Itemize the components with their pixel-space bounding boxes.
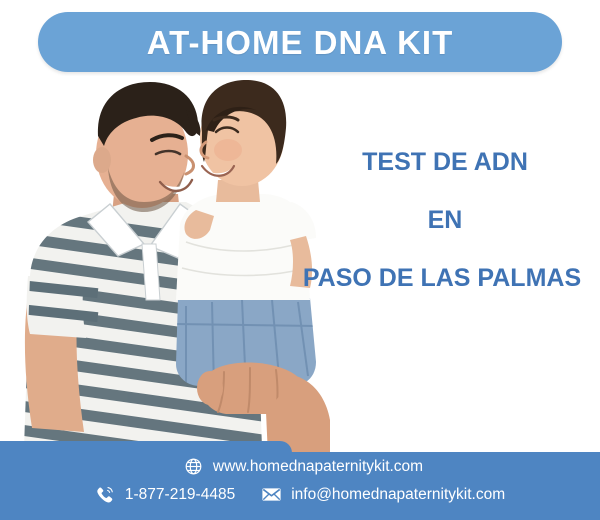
- page-title: AT-HOME DNA KIT: [147, 26, 453, 59]
- website-text: www.homednapaternitykit.com: [213, 458, 423, 475]
- footer-bar: www.homednapaternitykit.com 1-877-219-44…: [0, 441, 600, 520]
- headline-line-2: EN: [300, 208, 590, 233]
- email-text: info@homednapaternitykit.com: [291, 486, 505, 503]
- email-contact[interactable]: info@homednapaternitykit.com: [261, 484, 505, 505]
- footer-contacts: www.homednapaternitykit.com 1-877-219-44…: [0, 441, 600, 520]
- phone-icon: [95, 484, 116, 505]
- phone-contact[interactable]: 1-877-219-4485: [95, 484, 235, 505]
- promo-card: AT-HOME DNA KIT: [0, 0, 600, 520]
- header-banner: AT-HOME DNA KIT: [38, 12, 562, 72]
- family-photo-illustration: [10, 76, 340, 456]
- footer-row-website: www.homednapaternitykit.com: [183, 456, 423, 477]
- headline-line-1: TEST DE ADN: [300, 150, 590, 175]
- footer-row-phone-email: 1-877-219-4485 info@homednapaternitykit.…: [95, 484, 505, 505]
- family-photo: [10, 76, 340, 456]
- headline-line-3: PASO DE LAS PALMAS: [294, 266, 590, 291]
- phone-text: 1-877-219-4485: [125, 486, 235, 503]
- headline-block: TEST DE ADN EN PASO DE LAS PALMAS: [300, 150, 590, 291]
- envelope-icon: [261, 484, 282, 505]
- globe-icon: [183, 456, 204, 477]
- website-contact[interactable]: www.homednapaternitykit.com: [183, 456, 423, 477]
